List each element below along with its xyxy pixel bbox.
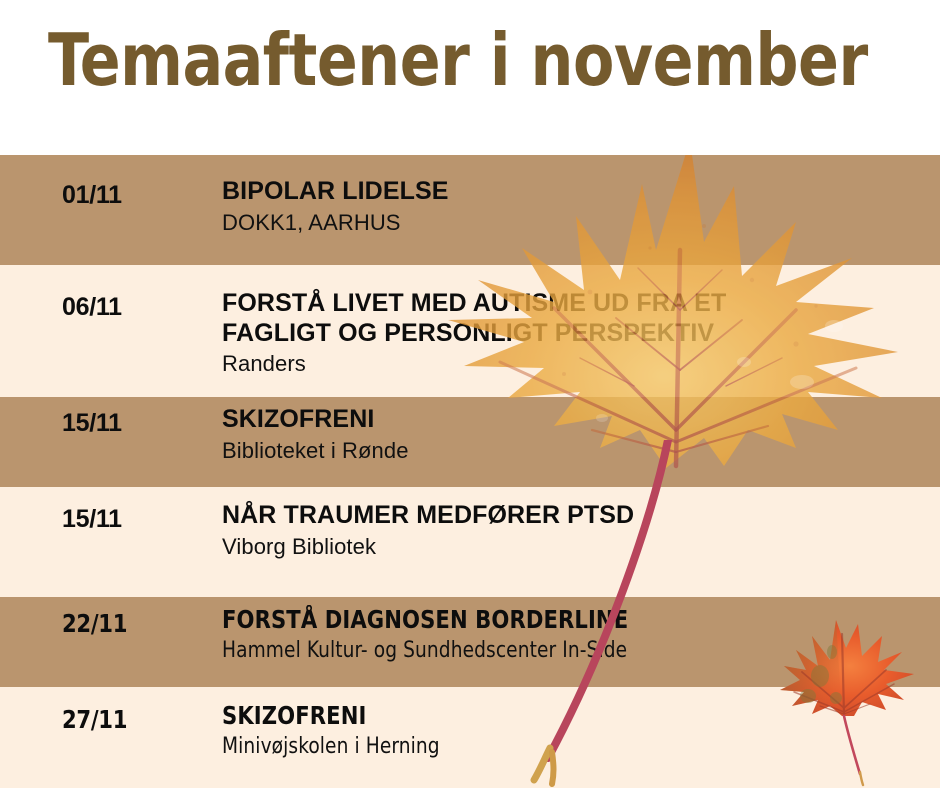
event-venue: Minivøjskolen i Herning: [222, 734, 888, 760]
event-venue: Viborg Bibliotek: [222, 534, 930, 560]
event-venue: Randers: [222, 351, 930, 377]
event-date: 15/11: [62, 409, 122, 438]
event-row[interactable]: 06/11 FORSTÅ LIVET MED AUTISME UD FRA ET…: [0, 265, 940, 397]
event-row[interactable]: 15/11 SKIZOFRENI Biblioteket i Rønde: [0, 397, 940, 487]
poster-canvas: Temaaftener i november 01/11 BIPOLAR LID…: [0, 0, 940, 788]
event-row[interactable]: 22/11 FORSTÅ DIAGNOSEN BORDERLINE Hammel…: [0, 597, 940, 687]
event-text-column: FORSTÅ DIAGNOSEN BORDERLINE Hammel Kultu…: [222, 605, 930, 664]
event-text-column: SKIZOFRENI Biblioteket i Rønde: [222, 405, 930, 464]
event-row[interactable]: 01/11 BIPOLAR LIDELSE DOKK1, AARHUS: [0, 155, 940, 265]
event-date: 22/11: [62, 609, 127, 638]
event-row[interactable]: 27/11 SKIZOFRENI Minivøjskolen i Herning: [0, 687, 940, 788]
event-venue: Hammel Kultur- og Sundhedscenter In-Side: [222, 638, 888, 664]
event-title-line2: FAGLIGT OG PERSONLIGT PERSPEKTIV: [222, 319, 930, 349]
event-date: 15/11: [62, 505, 122, 534]
event-title: FORSTÅ DIAGNOSEN BORDERLINE: [222, 605, 888, 635]
event-date: 01/11: [62, 181, 122, 210]
event-title: FORSTÅ LIVET MED AUTISME UD FRA ET: [222, 289, 930, 319]
event-title: SKIZOFRENI: [222, 701, 888, 731]
event-text-column: FORSTÅ LIVET MED AUTISME UD FRA ET FAGLI…: [222, 289, 930, 377]
event-date: 06/11: [62, 293, 122, 322]
event-row[interactable]: 15/11 NÅR TRAUMER MEDFØRER PTSD Viborg B…: [0, 487, 940, 597]
event-title: SKIZOFRENI: [222, 405, 930, 435]
title-bar: Temaaftener i november: [0, 0, 940, 155]
event-title: NÅR TRAUMER MEDFØRER PTSD: [222, 501, 930, 531]
event-list: 01/11 BIPOLAR LIDELSE DOKK1, AARHUS 06/1…: [0, 155, 940, 788]
event-title: BIPOLAR LIDELSE: [222, 177, 930, 207]
event-date: 27/11: [62, 705, 127, 734]
event-text-column: BIPOLAR LIDELSE DOKK1, AARHUS: [222, 177, 930, 236]
event-text-column: SKIZOFRENI Minivøjskolen i Herning: [222, 701, 930, 760]
event-venue: DOKK1, AARHUS: [222, 210, 930, 236]
event-venue: Biblioteket i Rønde: [222, 438, 930, 464]
event-text-column: NÅR TRAUMER MEDFØRER PTSD Viborg Bibliot…: [222, 501, 930, 560]
page-title: Temaaftener i november: [48, 24, 868, 96]
